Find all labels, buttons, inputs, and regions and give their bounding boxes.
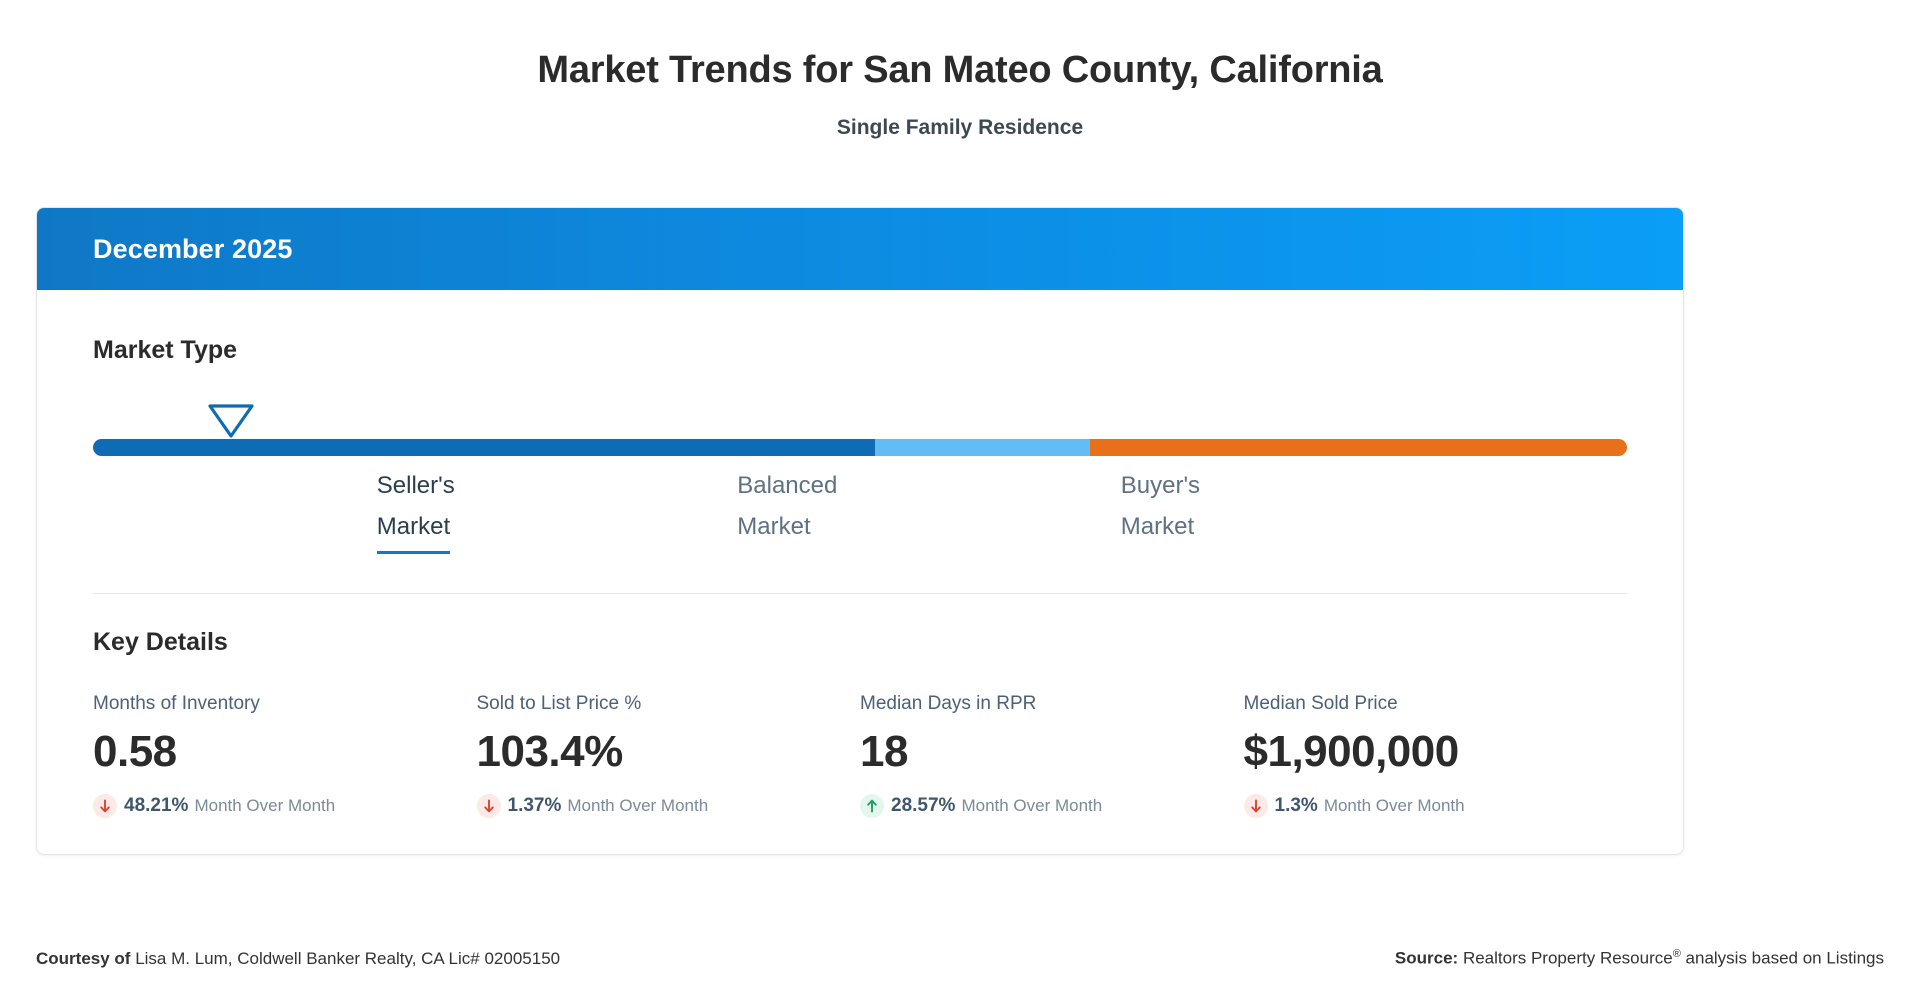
gauge-label-line1: Seller's	[377, 465, 455, 506]
metric-change-period: Month Over Month	[194, 796, 335, 816]
metric-card: Sold to List Price %103.4%1.37%Month Ove…	[477, 693, 861, 818]
metric-change-percent: 1.3%	[1275, 795, 1318, 817]
gauge-label-line1: Balanced	[737, 465, 837, 506]
footer-source-label: Source:	[1395, 949, 1458, 968]
market-type-gauge	[93, 403, 1627, 459]
metric-change: 28.57%Month Over Month	[860, 794, 1244, 818]
metric-label: Median Sold Price	[1244, 693, 1628, 716]
page-subtitle: Single Family Residence	[0, 116, 1920, 140]
triangle-down-marker-icon	[202, 403, 260, 439]
card-header: December 2025	[37, 208, 1683, 290]
footer-source-text-b: analysis based on Listings	[1681, 949, 1884, 968]
gauge-segment-balanced	[875, 439, 1090, 456]
key-details-heading: Key Details	[93, 628, 1627, 657]
metric-card: Months of Inventory0.5848.21%Month Over …	[93, 693, 477, 818]
gauge-label-balanced-market[interactable]: BalancedMarket	[737, 465, 837, 547]
gauge-label-line2: Market	[377, 506, 450, 554]
registered-trademark-icon: ®	[1673, 948, 1681, 960]
footer-courtesy-label: Courtesy of	[36, 949, 130, 968]
metric-card: Median Sold Price$1,900,0001.3%Month Ove…	[1244, 693, 1628, 818]
market-trends-page: Market Trends for San Mateo County, Cali…	[0, 0, 1920, 1008]
metric-value: 18	[860, 728, 1244, 776]
period-label: December 2025	[93, 234, 292, 265]
footer-courtesy-text: Lisa M. Lum, Coldwell Banker Realty, CA …	[130, 949, 560, 968]
metric-change-percent: 48.21%	[124, 795, 188, 817]
metric-label: Months of Inventory	[93, 693, 477, 716]
metric-card: Median Days in RPR1828.57%Month Over Mon…	[860, 693, 1244, 818]
market-type-bar	[93, 439, 1627, 456]
metric-change: 1.37%Month Over Month	[477, 794, 861, 818]
metric-value: 103.4%	[477, 728, 861, 776]
metric-label: Sold to List Price %	[477, 693, 861, 716]
gauge-segment-sellers	[93, 439, 875, 456]
section-divider	[93, 593, 1627, 594]
metric-label: Median Days in RPR	[860, 693, 1244, 716]
metric-value: 0.58	[93, 728, 477, 776]
gauge-label-sellers-market[interactable]: Seller'sMarket	[377, 465, 455, 554]
footer: Courtesy of Lisa M. Lum, Coldwell Banker…	[36, 948, 1884, 969]
market-trends-card: December 2025 Market Type Seller'sMarket…	[36, 207, 1684, 855]
metric-change-period: Month Over Month	[961, 796, 1102, 816]
card-body: Market Type Seller'sMarketBalancedMarket…	[37, 290, 1683, 854]
footer-source-text-a: Realtors Property Resource	[1458, 949, 1672, 968]
arrow-up-icon	[860, 794, 884, 818]
gauge-label-line2: Market	[737, 506, 837, 547]
metric-change: 1.3%Month Over Month	[1244, 794, 1628, 818]
arrow-down-icon	[1244, 794, 1268, 818]
title-block: Market Trends for San Mateo County, Cali…	[0, 0, 1920, 140]
metric-change: 48.21%Month Over Month	[93, 794, 477, 818]
metric-change-percent: 1.37%	[508, 795, 562, 817]
page-title: Market Trends for San Mateo County, Cali…	[0, 48, 1920, 94]
gauge-segment-buyers	[1090, 439, 1627, 456]
gauge-label-line2: Market	[1121, 506, 1200, 547]
metric-change-period: Month Over Month	[567, 796, 708, 816]
footer-source: Source: Realtors Property Resource® anal…	[1395, 948, 1884, 969]
arrow-down-icon	[477, 794, 501, 818]
metric-change-percent: 28.57%	[891, 795, 955, 817]
market-type-heading: Market Type	[93, 336, 1627, 365]
arrow-down-icon	[93, 794, 117, 818]
market-type-labels: Seller'sMarketBalancedMarketBuyer'sMarke…	[93, 465, 1627, 575]
gauge-label-line1: Buyer's	[1121, 465, 1200, 506]
key-details-metrics: Months of Inventory0.5848.21%Month Over …	[93, 693, 1627, 818]
gauge-label-buyers-market[interactable]: Buyer'sMarket	[1121, 465, 1200, 547]
metric-change-period: Month Over Month	[1324, 796, 1465, 816]
footer-courtesy: Courtesy of Lisa M. Lum, Coldwell Banker…	[36, 949, 560, 969]
metric-value: $1,900,000	[1244, 728, 1628, 776]
